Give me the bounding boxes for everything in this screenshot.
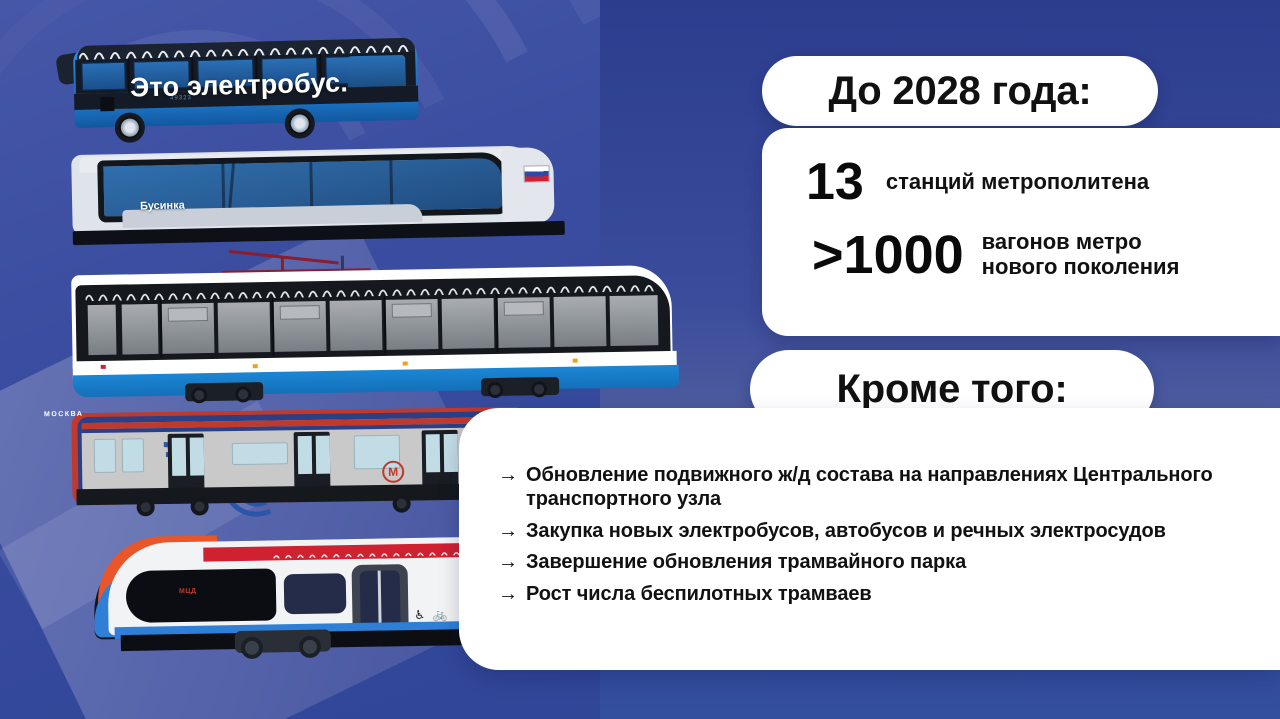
bullet-item: →Завершение обновления трамвайного парка [498, 550, 1268, 574]
russian-flag-icon [523, 165, 549, 183]
tram-illustration [71, 247, 693, 400]
stat-row-metro-stations: 13 станций метрополитена [806, 156, 1149, 208]
arrow-right-icon: → [498, 550, 518, 574]
bullet-item: →Закупка новых электробусов, автобусов и… [498, 519, 1268, 543]
infographic-stage: 49323 Это электробус. Бусинка [0, 0, 1280, 719]
businka-illustration [71, 141, 563, 249]
heading-pill-moreover-label: Кроме того: [837, 367, 1068, 412]
metro-brand-label: МОСКВА [44, 411, 83, 419]
stat-number: 13 [806, 156, 864, 208]
stat-label: станций метрополитена [886, 170, 1149, 195]
arrow-right-icon: → [498, 463, 518, 487]
heading-pill-until-2028-label: До 2028 года: [828, 69, 1091, 114]
stat-row-metro-cars: >1000 вагонов метро нового поколения [812, 228, 1179, 282]
mcd-label: МЦД [179, 588, 197, 595]
electrobus-overlay-label: Это электробус. [130, 67, 349, 103]
arrow-right-icon: → [498, 582, 518, 606]
stat-label: вагонов метро нового поколения [982, 230, 1180, 279]
accessibility-bicycle-pictogram-icon: ♿ 🚲 [414, 607, 449, 622]
bullet-text: Закупка новых электробусов, автобусов и … [526, 519, 1166, 543]
bullet-text: Обновление подвижного ж/д состава на нап… [526, 463, 1268, 512]
stat-number: >1000 [812, 228, 964, 282]
bullet-text: Рост числа беспилотных трамваев [526, 582, 872, 606]
bullet-item: →Обновление подвижного ж/д состава на на… [498, 463, 1268, 512]
bullet-list: →Обновление подвижного ж/д состава на на… [498, 463, 1268, 613]
arrow-right-icon: → [498, 519, 518, 543]
bullet-item: →Рост числа беспилотных трамваев [498, 582, 1268, 606]
heading-pill-until-2028: До 2028 года: [762, 56, 1158, 126]
businka-label: Бусинка [140, 200, 185, 213]
bullet-text: Завершение обновления трамвайного парка [526, 550, 966, 574]
ivolga-train-illustration: МЦД ♿ 🚲 [83, 520, 515, 663]
